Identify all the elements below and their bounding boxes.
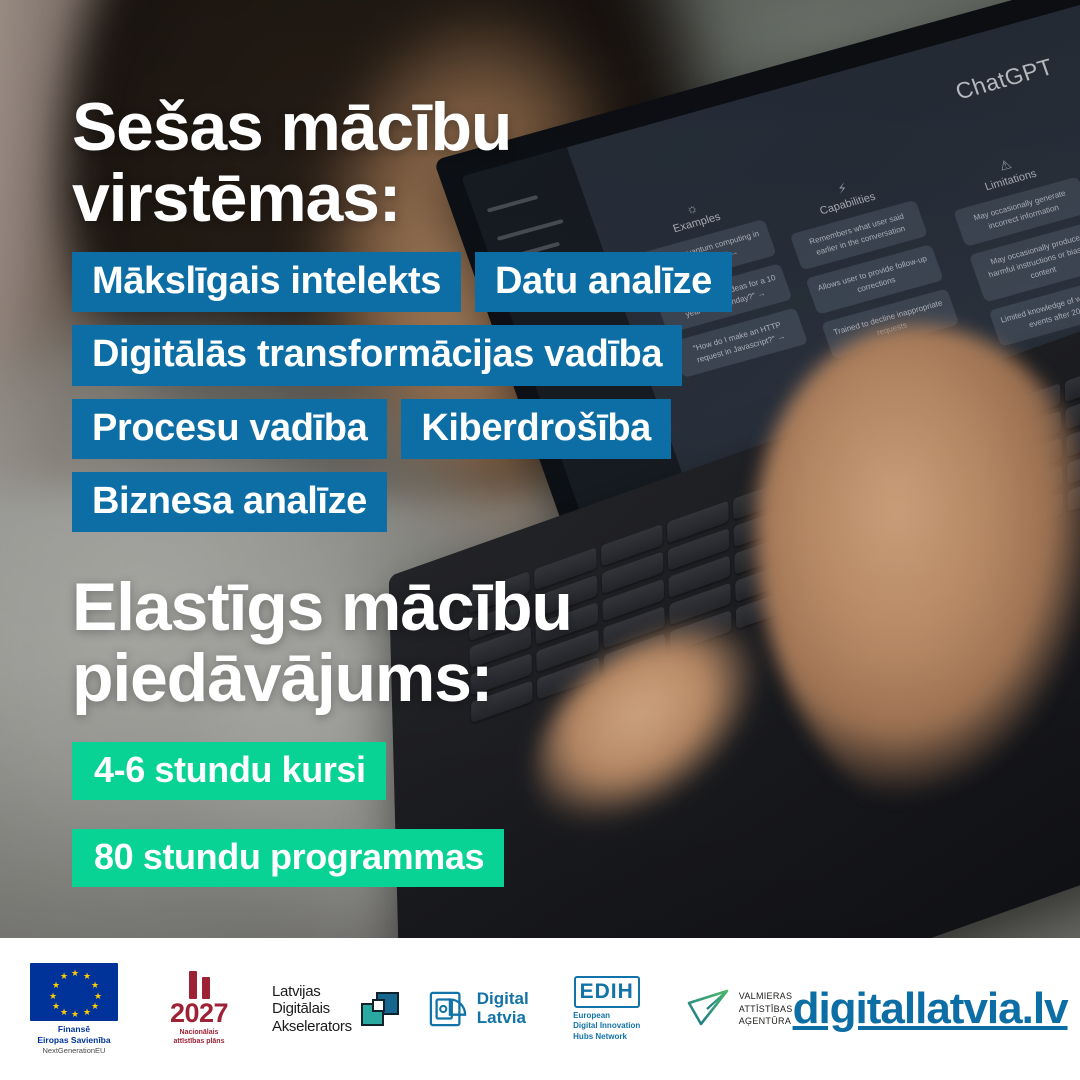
digital-latvia-monogram-icon [429,990,467,1028]
valmiera-line3: AĢENTŪRA [739,1016,791,1026]
topic-tag[interactable]: Datu analīze [475,252,732,312]
logo-european-union[interactable]: ★ ★ ★ ★ ★ ★ ★ ★ ★ ★ ★ ★ Finansē Eiropas … [22,963,126,1055]
topic-tag-row: Mākslīgais intelekts Datu analīze [72,252,932,312]
topic-tag[interactable]: Digitālās transformācijas vadība [72,325,682,385]
edih-sub-line1: European [573,1011,610,1020]
nap-bars-icon [189,971,210,999]
eu-label-line3: NextGenerationEU [43,1046,106,1055]
nap-sub-line1: Nacionālais [180,1029,219,1036]
valmiera-line2: ATTĪSTĪBAS [739,1004,793,1014]
digital-latvia-line1: Digital [477,989,529,1008]
offer-tag-list: 4-6 stundu kursi 80 stundu programmas [72,742,692,916]
valmiera-line1: VALMIERAS [739,991,793,1001]
logo-valmieras-attistibas-agentura[interactable]: VALMIERAS ATTĪSTĪBAS AĢENTŪRA [685,986,793,1033]
logo-edih[interactable]: EDIH European Digital Innovation Hubs Ne… [559,976,655,1042]
edih-sub-line3: Hubs Network [573,1032,627,1041]
eu-label-line2: Eiropas Savienība [37,1035,110,1045]
offer-tag[interactable]: 80 stundu programmas [72,829,504,887]
lda-line1: Latvijas [272,983,320,1000]
topic-tag-row: Digitālās transformācijas vadība [72,325,932,385]
footer-logo-bar: ★ ★ ★ ★ ★ ★ ★ ★ ★ ★ ★ ★ Finansē Eiropas … [0,938,1080,1080]
promo-poster: ChatGPT ☼ Examples "Explain quantum comp… [0,0,1080,1080]
topic-tag[interactable]: Mākslīgais intelekts [72,252,461,312]
topic-tag[interactable]: Biznesa analīze [72,472,387,532]
lda-line3: Akselerators [272,1018,352,1035]
topic-tag-row: Procesu vadība Kiberdrošība [72,399,932,459]
topic-tag-list: Mākslīgais intelekts Datu analīze Digitā… [72,252,932,545]
topic-tag-row: Biznesa analīze [72,472,932,532]
nap-year: 2027 [170,1000,228,1027]
logo-latvijas-digitalais-akselerators[interactable]: Latvijas Digitālais Akselerators [272,983,399,1034]
edih-acronym: EDIH [574,976,640,1008]
topic-tag[interactable]: Procesu vadība [72,399,387,459]
eu-label-line1: Finansē [58,1024,90,1034]
topic-tag[interactable]: Kiberdrošība [401,399,671,459]
logo-nacionalais-attistibas-plans[interactable]: 2027 Nacionālais attīstības plāns [156,971,242,1047]
section-title-offer: Elastīgs mācību piedāvājums: [72,572,572,713]
edih-sub-line2: Digital Innovation [573,1021,640,1030]
page-title: Sešas mācību virstēmas: [72,92,511,233]
poster-content: Sešas mācību virstēmas: Mākslīgais intel… [72,0,972,938]
eu-flag-icon: ★ ★ ★ ★ ★ ★ ★ ★ ★ ★ ★ ★ [30,963,118,1021]
offer-tag-row: 80 stundu programmas [72,829,692,903]
lda-line2: Digitālais [272,1000,330,1017]
website-link[interactable]: digitallatvia.lv [793,984,1080,1034]
logo-digital-latvia[interactable]: Digital Latvia [429,990,529,1028]
digital-latvia-line2: Latvia [477,1008,526,1027]
offer-tag[interactable]: 4-6 stundu kursi [72,742,386,800]
arrow-triangle-icon [685,986,731,1033]
footer-logos: ★ ★ ★ ★ ★ ★ ★ ★ ★ ★ ★ ★ Finansē Eiropas … [22,963,793,1055]
nap-sub-line2: attīstības plāns [174,1038,225,1045]
overlapping-squares-icon [361,992,399,1026]
offer-tag-row: 4-6 stundu kursi [72,742,692,816]
